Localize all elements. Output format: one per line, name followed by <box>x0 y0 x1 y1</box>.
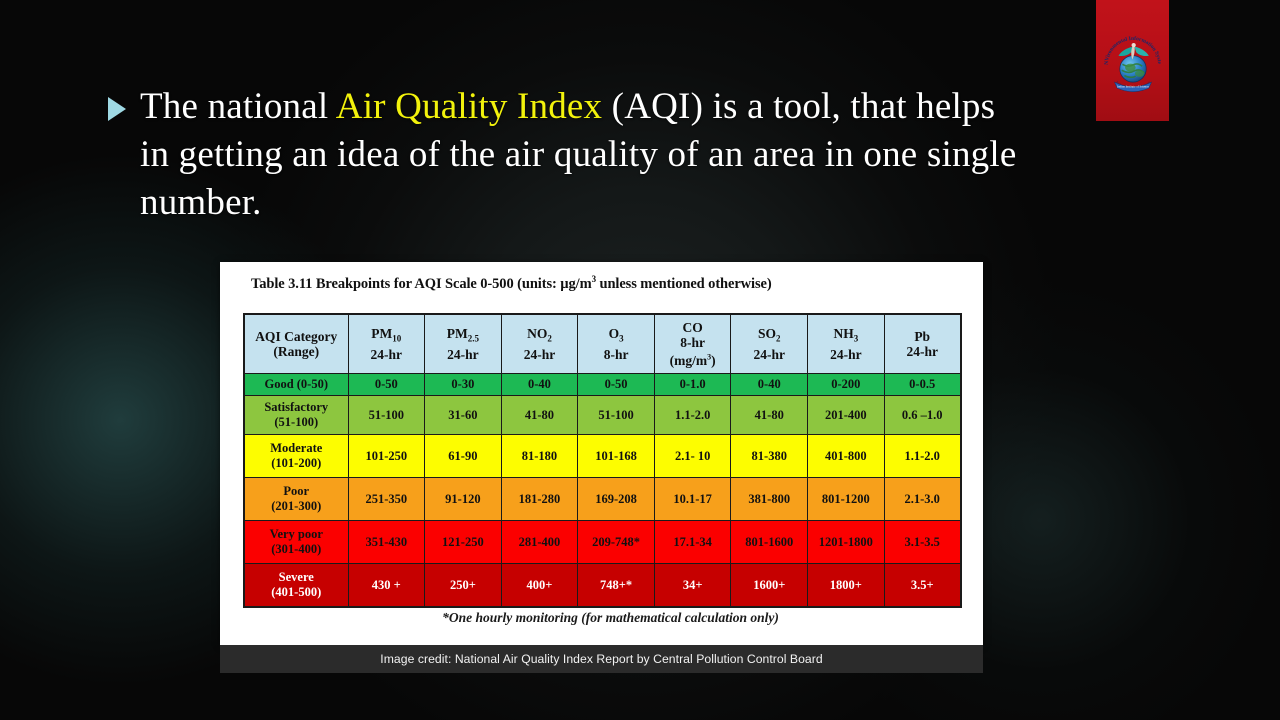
bullet-paragraph: The national Air Quality Index (AQI) is … <box>108 83 1028 227</box>
cell: 0.6 –1.0 <box>884 396 961 435</box>
cell: 801-1200 <box>808 478 885 521</box>
cell: 0-1.0 <box>654 374 731 396</box>
row-category-poor: Poor (201-300) <box>244 478 348 521</box>
cell: 401-800 <box>808 435 885 478</box>
row-category-satisfactory: Satisfactory (51-100) <box>244 396 348 435</box>
table-row: Severe (401-500) 430 + 250+ 400+ 748+* 3… <box>244 564 961 608</box>
cell: 351-430 <box>348 521 425 564</box>
cell: 1201-1800 <box>808 521 885 564</box>
cell: 61-90 <box>425 435 502 478</box>
aqi-table-image-card: Table 3.11 Breakpoints for AQI Scale 0-5… <box>220 262 983 645</box>
cell: 201-400 <box>808 396 885 435</box>
cell: 169-208 <box>578 478 655 521</box>
cell: 0-40 <box>501 374 578 396</box>
row-category-moderate: Moderate (101-200) <box>244 435 348 478</box>
col-header-pm25: PM2.5 24-hr <box>425 314 502 374</box>
slide-canvas: ENVironmental Information System Indian … <box>0 0 1280 720</box>
cell: 0-200 <box>808 374 885 396</box>
table-row: Good (0-50) 0-50 0-30 0-40 0-50 0-1.0 0-… <box>244 374 961 396</box>
cell: 51-100 <box>578 396 655 435</box>
table-row: Satisfactory (51-100) 51-100 31-60 41-80… <box>244 396 961 435</box>
table-title-tail: unless mentioned otherwise) <box>596 276 772 292</box>
cell: 0-40 <box>731 374 808 396</box>
svg-text:Indian Institute of Science: Indian Institute of Science <box>1117 84 1149 88</box>
table-title-main: Table 3.11 Breakpoints for AQI Scale 0-5… <box>251 276 592 292</box>
cell: 1800+ <box>808 564 885 608</box>
table-row: Moderate (101-200) 101-250 61-90 81-180 … <box>244 435 961 478</box>
cell: 209-748* <box>578 521 655 564</box>
cell: 31-60 <box>425 396 502 435</box>
table-header-row: AQI Category (Range) PM10 24-hr PM2.5 24… <box>244 314 961 374</box>
col-header-category: AQI Category (Range) <box>244 314 348 374</box>
cell: 81-380 <box>731 435 808 478</box>
table-row: Very poor (301-400) 351-430 121-250 281-… <box>244 521 961 564</box>
cell: 801-1600 <box>731 521 808 564</box>
col-header-o3: O3 8-hr <box>578 314 655 374</box>
row-category-very-poor: Very poor (301-400) <box>244 521 348 564</box>
cell: 121-250 <box>425 521 502 564</box>
cell: 17.1-34 <box>654 521 731 564</box>
cell: 381-800 <box>731 478 808 521</box>
cell: 2.1- 10 <box>654 435 731 478</box>
cell: 81-180 <box>501 435 578 478</box>
triangle-bullet-icon <box>108 97 126 121</box>
row-category-good: Good (0-50) <box>244 374 348 396</box>
cell: 51-100 <box>348 396 425 435</box>
cell: 1600+ <box>731 564 808 608</box>
cell: 748+* <box>578 564 655 608</box>
cell: 1.1-2.0 <box>884 435 961 478</box>
cell: 0-0.5 <box>884 374 961 396</box>
cell: 430 + <box>348 564 425 608</box>
col-header-pb: Pb 24-hr <box>884 314 961 374</box>
col-header-co: CO 8-hr (mg/m3) <box>654 314 731 374</box>
cell: 0-50 <box>578 374 655 396</box>
cell: 10.1-17 <box>654 478 731 521</box>
body-text-before: The national <box>140 86 336 127</box>
cell: 1.1-2.0 <box>654 396 731 435</box>
cell: 181-280 <box>501 478 578 521</box>
cell: 0-30 <box>425 374 502 396</box>
aqi-breakpoints-table: AQI Category (Range) PM10 24-hr PM2.5 24… <box>243 313 962 608</box>
cell: 41-80 <box>731 396 808 435</box>
cell: 101-250 <box>348 435 425 478</box>
col-header-so2: SO2 24-hr <box>731 314 808 374</box>
col-header-pm10: PM10 24-hr <box>348 314 425 374</box>
col-header-category-line2: (Range) <box>273 344 319 359</box>
image-credit-bar: Image credit: National Air Quality Index… <box>220 645 983 673</box>
body-text-highlight: Air Quality Index <box>336 86 602 127</box>
cell: 3.5+ <box>884 564 961 608</box>
cell: 2.1-3.0 <box>884 478 961 521</box>
body-text: The national Air Quality Index (AQI) is … <box>140 83 1028 227</box>
table-row: Poor (201-300) 251-350 91-120 181-280 16… <box>244 478 961 521</box>
cell: 400+ <box>501 564 578 608</box>
col-header-nh3: NH3 24-hr <box>808 314 885 374</box>
cell: 101-168 <box>578 435 655 478</box>
cell: 41-80 <box>501 396 578 435</box>
cell: 250+ <box>425 564 502 608</box>
cell: 281-400 <box>501 521 578 564</box>
col-header-co-units: (mg/m3) <box>670 353 716 368</box>
cell: 251-350 <box>348 478 425 521</box>
envis-logo: ENVironmental Information System Indian … <box>1096 0 1169 121</box>
cell: 3.1-3.5 <box>884 521 961 564</box>
cell: 0-50 <box>348 374 425 396</box>
envis-emblem-icon: ENVironmental Information System Indian … <box>1100 28 1166 94</box>
cell: 91-120 <box>425 478 502 521</box>
row-category-severe: Severe (401-500) <box>244 564 348 608</box>
cell: 34+ <box>654 564 731 608</box>
table-footnote: *One hourly monitoring (for mathematical… <box>220 610 983 626</box>
col-header-category-line1: AQI Category <box>255 329 337 344</box>
table-title: Table 3.11 Breakpoints for AQI Scale 0-5… <box>251 274 772 293</box>
col-header-no2: NO2 24-hr <box>501 314 578 374</box>
